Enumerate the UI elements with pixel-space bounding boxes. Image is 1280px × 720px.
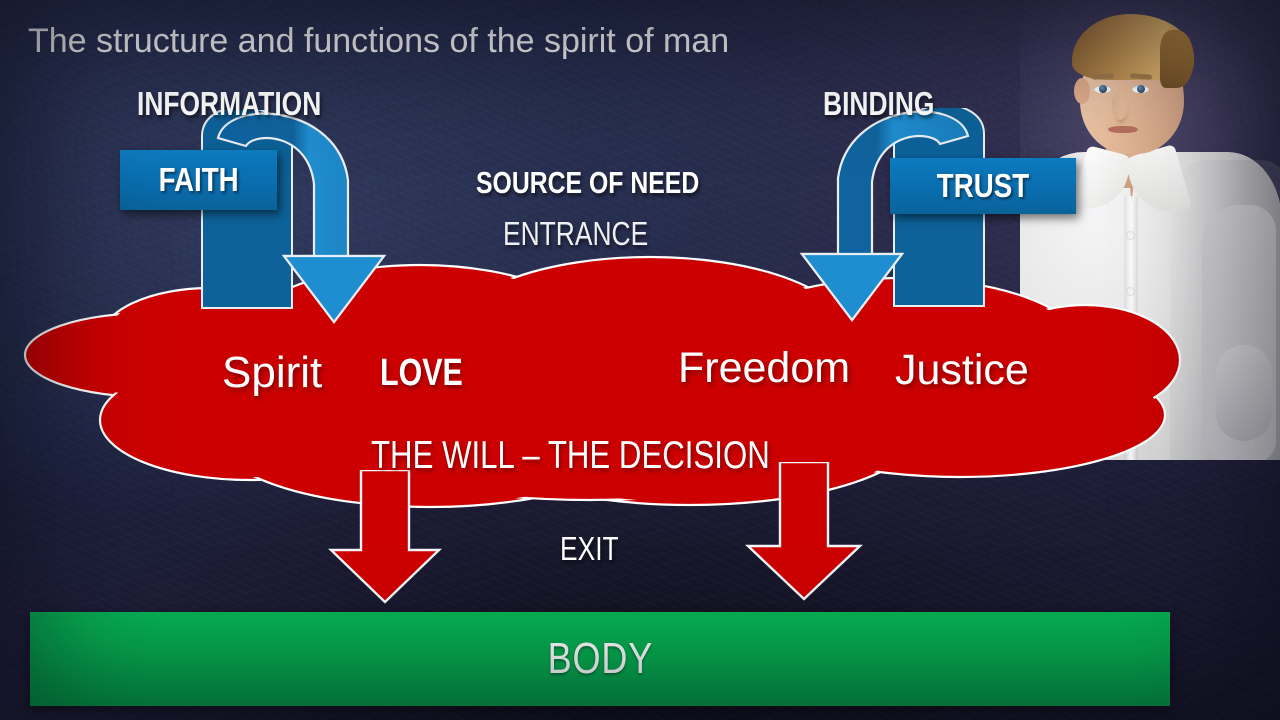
tag-trust[interactable]: TRUST: [890, 158, 1076, 214]
label-binding: BINDING: [823, 85, 934, 123]
ear: [1074, 78, 1090, 104]
exit-arrow-right: [742, 462, 866, 602]
hair-side: [1160, 30, 1194, 88]
cloud-word-freedom: Freedom: [678, 344, 850, 393]
arch-arrow-faith-to-love: [188, 110, 448, 360]
curved-arrow-icon: [188, 110, 448, 360]
tag-faith-label: FAITH: [158, 161, 238, 199]
nose: [1112, 92, 1128, 120]
mouth: [1108, 126, 1138, 133]
page-title: The structure and functions of the spiri…: [28, 22, 729, 61]
down-arrow-icon: [742, 462, 866, 602]
label-source-of-need: SOURCE OF NEED: [476, 165, 699, 201]
label-information: INFORMATION: [137, 85, 321, 123]
body-bar-label: BODY: [547, 634, 653, 684]
body-bar: BODY: [30, 612, 1170, 706]
tag-trust-label: TRUST: [937, 167, 1029, 205]
pupil-right: [1137, 85, 1145, 93]
arm-fold: [1216, 345, 1272, 441]
exit-arrow-left: [325, 470, 445, 605]
arch-arrow-trust-to-freedom: [738, 108, 998, 360]
cloud-word-spirit: Spirit: [222, 348, 322, 398]
curved-arrow-icon: [738, 108, 998, 360]
cloud-word-love: LOVE: [380, 352, 463, 395]
cloud-caption-will-decision: THE WILL – THE DECISION: [371, 434, 770, 478]
label-exit: EXIT: [560, 530, 619, 568]
tag-faith[interactable]: FAITH: [120, 150, 277, 210]
shirt-button: [1127, 232, 1134, 239]
slide-canvas: BODY The structure and functions of the …: [0, 0, 1280, 720]
pupil-left: [1099, 85, 1107, 93]
label-entrance: ENTRANCE: [503, 215, 648, 253]
cloud-word-justice: Justice: [895, 346, 1029, 395]
down-arrow-icon: [325, 470, 445, 605]
